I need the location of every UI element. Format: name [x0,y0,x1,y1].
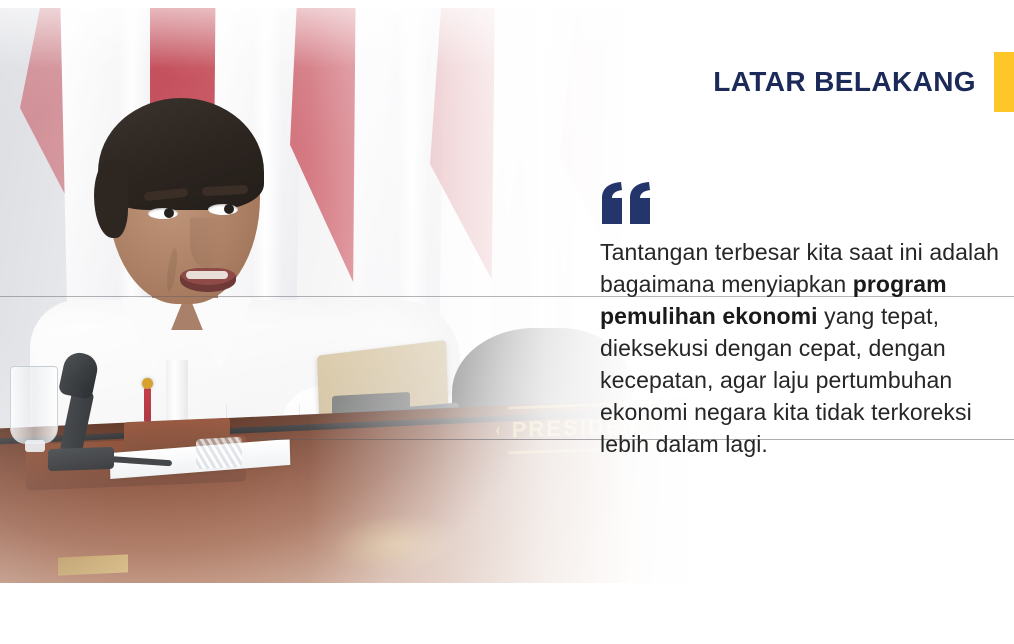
double-quote-icon [600,182,652,224]
desk-gold-ornament [330,511,460,577]
microphone-base [48,447,114,471]
page-title: LATAR BELAKANG [713,66,976,98]
pupil-left [164,208,174,218]
quote-emphasis: program pemulihan ekonomi [600,271,947,329]
lapel-pin-badge [142,378,153,389]
pupil-right [224,204,234,214]
heading-block: LATAR BELAKANG [713,52,1014,112]
quote-text: Tantangan terbesar kita saat ini adalah … [600,236,1000,460]
accent-bar [994,52,1014,112]
quote-block: Tantangan terbesar kita saat ini adalah … [600,182,1000,460]
lapel-pin-ribbon [144,388,151,422]
slide-canvas: PRESIDEN LATAR BELAKANG Tantangan terbes… [0,0,1014,644]
desk-gold-plate [58,554,128,575]
mouth [180,268,236,292]
nose [190,218,224,268]
crystal-ornament [196,437,242,469]
drinking-glass [10,366,58,444]
